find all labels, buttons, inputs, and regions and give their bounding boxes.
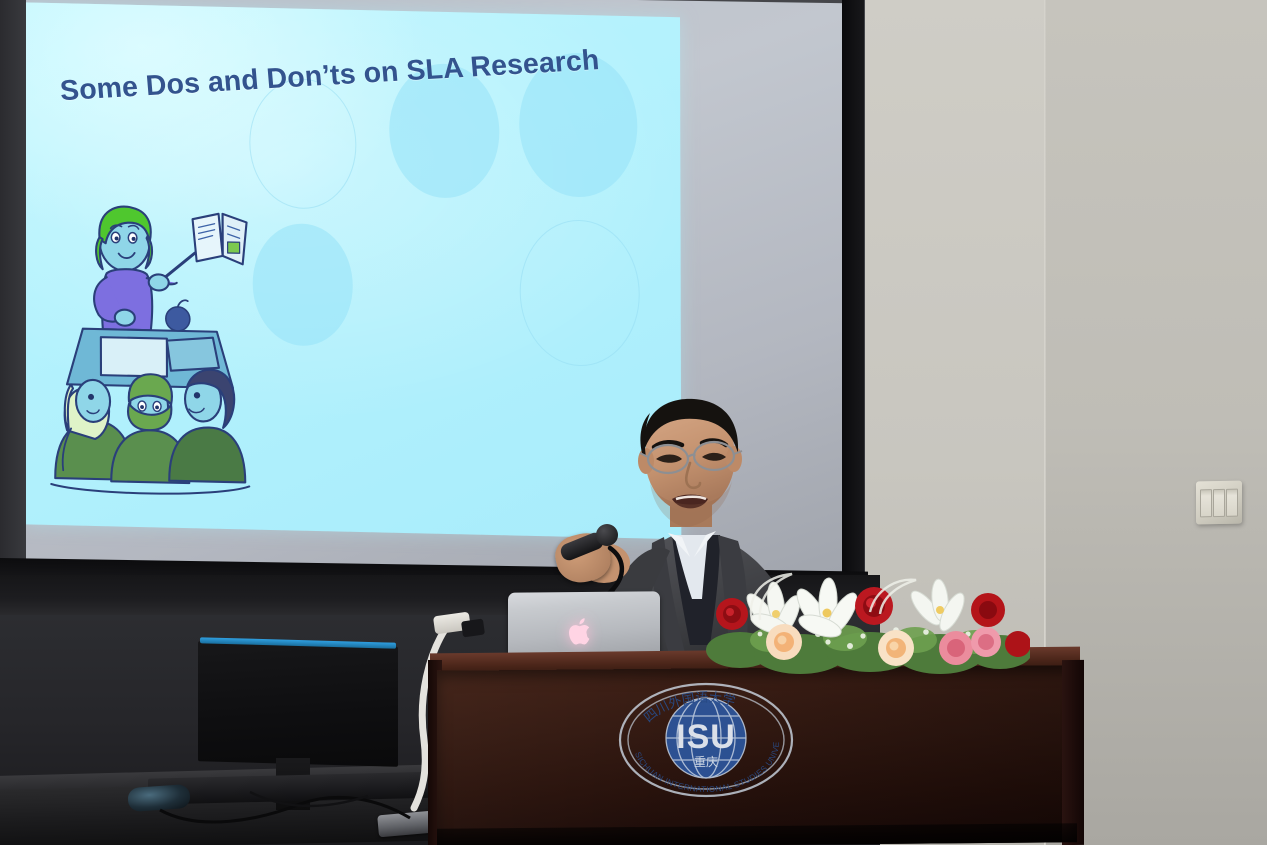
lectern-right-edge xyxy=(1062,660,1084,845)
red-rose-4 xyxy=(1005,631,1030,657)
apple-logo-icon xyxy=(568,617,594,647)
macbook[interactable] xyxy=(508,592,660,660)
wall-light-switch[interactable] xyxy=(1196,481,1242,525)
switch-rocker-2[interactable] xyxy=(1213,489,1225,517)
slide-decor-circle-outline-1 xyxy=(249,77,356,210)
university-emblem: ISU 重庆 四川外国语大学 SICHUAN INTERNATIONAL STU… xyxy=(617,680,795,805)
projected-slide: Some Dos and Don’ts on SLA Research xyxy=(24,2,681,539)
red-rose-1 xyxy=(716,598,748,630)
switch-rocker-3[interactable] xyxy=(1226,489,1238,517)
switch-rocker-1[interactable] xyxy=(1200,489,1212,517)
red-rose-3 xyxy=(971,593,1005,627)
teacher-and-students-clipart xyxy=(46,188,252,503)
white-lily-3 xyxy=(906,578,969,634)
pink-rose-1 xyxy=(939,631,973,665)
cable-connector xyxy=(461,619,485,638)
emblem-city-cn: 重庆 xyxy=(694,755,718,769)
peach-rose-1 xyxy=(766,624,802,660)
screen-border-left xyxy=(0,0,26,578)
red-rose-2 xyxy=(855,587,893,625)
emblem-initials: ISU xyxy=(676,718,736,756)
lecture-photo-scene: Some Dos and Don’ts on SLA Research xyxy=(0,0,1267,845)
pink-rose-2 xyxy=(971,627,1001,657)
peach-rose-2 xyxy=(878,630,914,666)
slide-decor-circle-fill-3 xyxy=(253,223,353,347)
slide-decor-circle-outline-2 xyxy=(520,219,640,368)
floral-arrangement xyxy=(700,568,1030,678)
